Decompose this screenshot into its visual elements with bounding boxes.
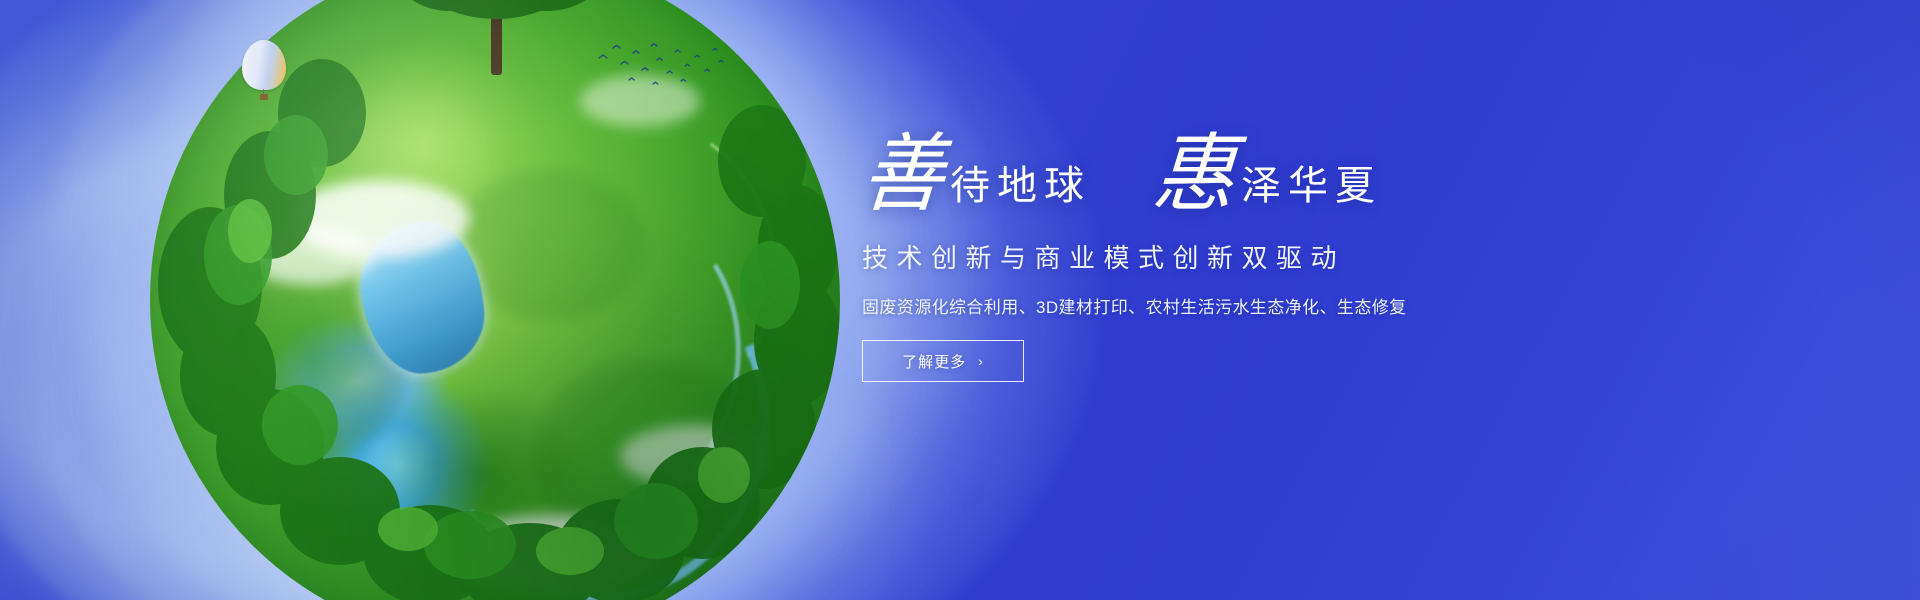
hero-content: 善 待地球 惠 泽华夏 技术创新与商业模式创新双驱动 固废资源化综合利用、3D建… xyxy=(862,120,1562,382)
headline-char-shan: 善 xyxy=(859,132,947,217)
hero-description: 固废资源化综合利用、3D建材打印、农村生活污水生态净化、生态修复 xyxy=(862,293,1562,318)
birds-icon xyxy=(595,40,725,100)
page-title: 善 待地球 惠 泽华夏 xyxy=(862,120,1562,216)
balloon-basket xyxy=(260,94,268,100)
cloud-icon xyxy=(245,225,375,285)
balloon-envelope xyxy=(242,40,286,90)
river-highlight xyxy=(455,185,765,535)
grass-patch xyxy=(310,45,540,245)
forest-patch xyxy=(530,355,770,555)
chevron-right-icon: › xyxy=(978,354,984,368)
hero-banner: 善 待地球 惠 泽华夏 技术创新与商业模式创新双驱动 固废资源化综合利用、3D建… xyxy=(0,0,1920,600)
grass-patch xyxy=(450,165,650,325)
headline-char-hui: 惠 xyxy=(1150,132,1238,217)
headline-text-zehuaxia: 泽华夏 xyxy=(1241,166,1382,216)
headline-text-daidiqiu: 待地球 xyxy=(950,166,1091,216)
hero-subtitle: 技术创新与商业模式创新双驱动 xyxy=(862,238,1562,275)
learn-more-label: 了解更多 xyxy=(902,351,966,372)
forest-patch xyxy=(380,385,580,565)
path-line xyxy=(456,92,801,445)
learn-more-button[interactable]: 了解更多 › xyxy=(862,340,1024,382)
cloud-icon xyxy=(290,180,470,258)
hot-air-balloon-icon xyxy=(242,40,286,100)
forest-patch xyxy=(220,255,410,465)
cloud-icon xyxy=(450,515,660,595)
cloud-icon xyxy=(620,425,770,487)
lake-icon xyxy=(352,215,492,380)
